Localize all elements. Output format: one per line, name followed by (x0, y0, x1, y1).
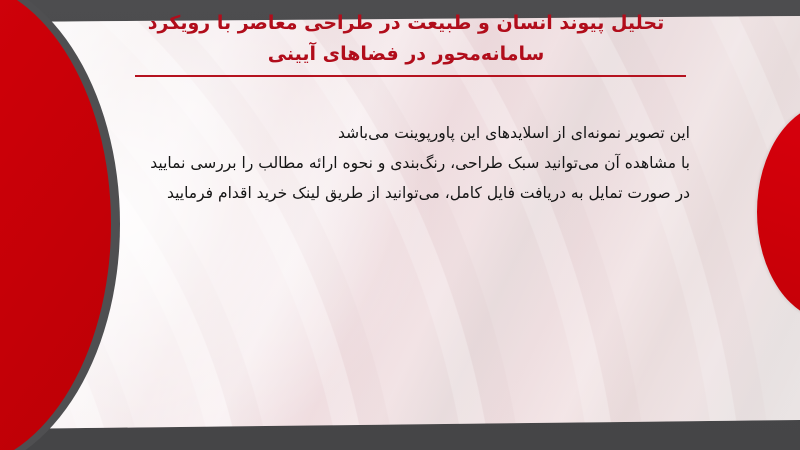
slide-title-line-1: تحلیل پیوند انسان و طبیعت در طراحی معاصر… (120, 8, 692, 39)
slide-body-line-1: این تصویر نمونه‌ای از اسلایدهای این پاور… (70, 118, 690, 148)
slide-title: تحلیل پیوند انسان و طبیعت در طراحی معاصر… (120, 8, 692, 70)
slide-body-line-3: در صورت تمایل به دریافت فایل کامل، می‌تو… (70, 178, 690, 208)
presentation-slide: تحلیل پیوند انسان و طبیعت در طراحی معاصر… (0, 0, 800, 450)
slide-title-line-2: سامانه‌محور در فضاهای آیینی (120, 39, 692, 70)
slide-body-line-2: با مشاهده آن می‌توانید سبک طراحی، رنگ‌بن… (70, 148, 690, 178)
slide-body-text: این تصویر نمونه‌ای از اسلایدهای این پاور… (70, 118, 690, 208)
title-underline (135, 75, 686, 77)
